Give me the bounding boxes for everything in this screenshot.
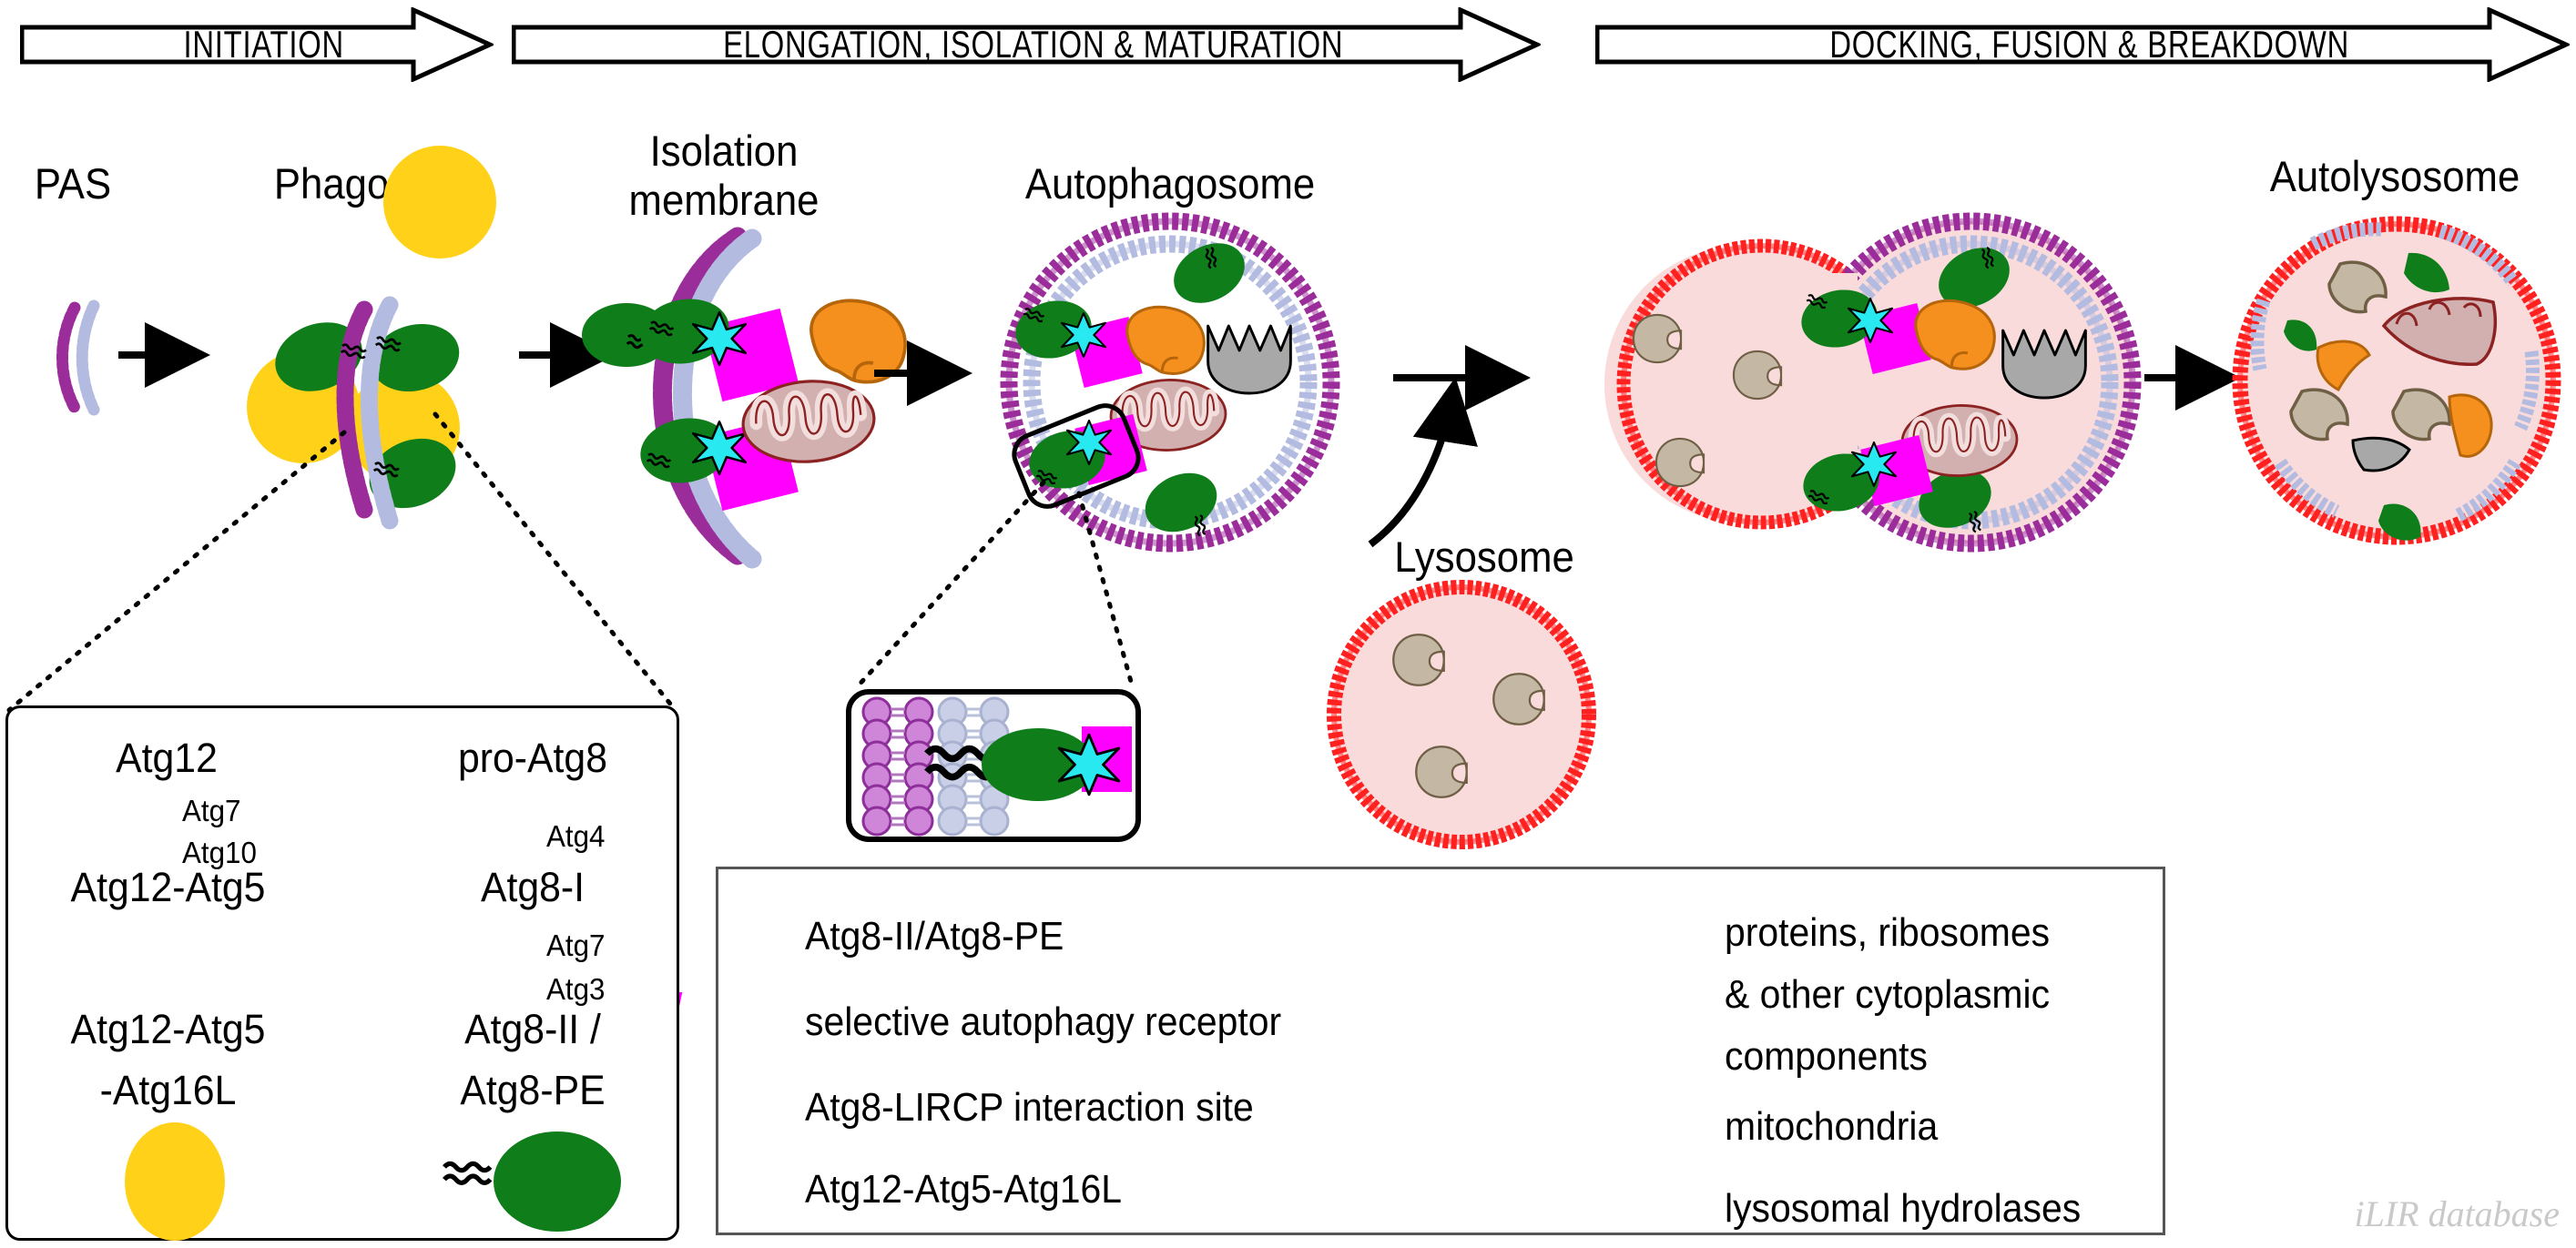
pathway-node-pro-atg8: pro-Atg8: [390, 737, 676, 779]
legend-label-receptor: selective autophagy receptor: [805, 999, 1281, 1044]
pathway-node-atg8-ii-line1: Atg8-II /: [390, 1009, 676, 1050]
callout-lines-phagophore: [9, 414, 674, 710]
pathway-node-atg16l-line2: -Atg16L: [19, 1070, 318, 1111]
pathway-node-atg8-i: Atg8-I: [390, 867, 676, 908]
atg12-complex-icon: [383, 146, 496, 259]
callout-lines-membrane-inset: [856, 482, 1133, 688]
pathway-enzyme-atg4: Atg4: [546, 819, 605, 854]
pathway-enzyme-atg7-right: Atg7: [546, 928, 605, 963]
pathway-enzyme-atg3: Atg3: [546, 972, 605, 1007]
structure-isolation-membrane: [582, 237, 905, 559]
legend-label-atg12-complex: Atg12-Atg5-Atg16L: [805, 1167, 1122, 1212]
structure-autolysosome: [2240, 224, 2553, 541]
inset-membrane-detail: [849, 692, 1138, 839]
atg8-pe-icon: [1135, 462, 1227, 543]
pathway-node-atg12: Atg12: [41, 737, 292, 779]
legend-label-mitochondria: mitochondria: [1725, 1104, 1938, 1149]
pathway-node-atg12-atg5: Atg12-Atg5: [19, 867, 318, 908]
legend-label-proteins-line3: components: [1725, 1034, 1928, 1079]
legend-label-lir-site: Atg8-LIRCP interaction site: [805, 1085, 1254, 1130]
structure-phagophore: [247, 146, 496, 521]
cytoplasmic-component-icon: [1208, 326, 1291, 393]
structure-docking-fusion: [1604, 221, 2133, 543]
legend-label-proteins-line1: proteins, ribosomes: [1725, 910, 2050, 955]
structure-lysosome: [1334, 587, 1589, 842]
legend-label-proteins-line2: & other cytoplasmic: [1725, 972, 2050, 1017]
pathway-node-atg8-pe-line2: Atg8-PE: [390, 1070, 676, 1111]
watermark-ilir-database: iLIR database: [2354, 1192, 2560, 1235]
pathway-node-atg12-atg5-line1: Atg12-Atg5: [19, 1009, 318, 1050]
legend-label-hydrolases: lysosomal hydrolases: [1725, 1186, 2081, 1231]
legend-label-atg8: Atg8-II/Atg8-PE: [805, 914, 1064, 959]
structure-autophagosome: [1008, 221, 1331, 543]
structure-pas: [63, 306, 95, 410]
lysosome-fusion-arrow: [1370, 391, 1453, 544]
pathway-enzyme-atg7-left: Atg7: [182, 794, 240, 828]
